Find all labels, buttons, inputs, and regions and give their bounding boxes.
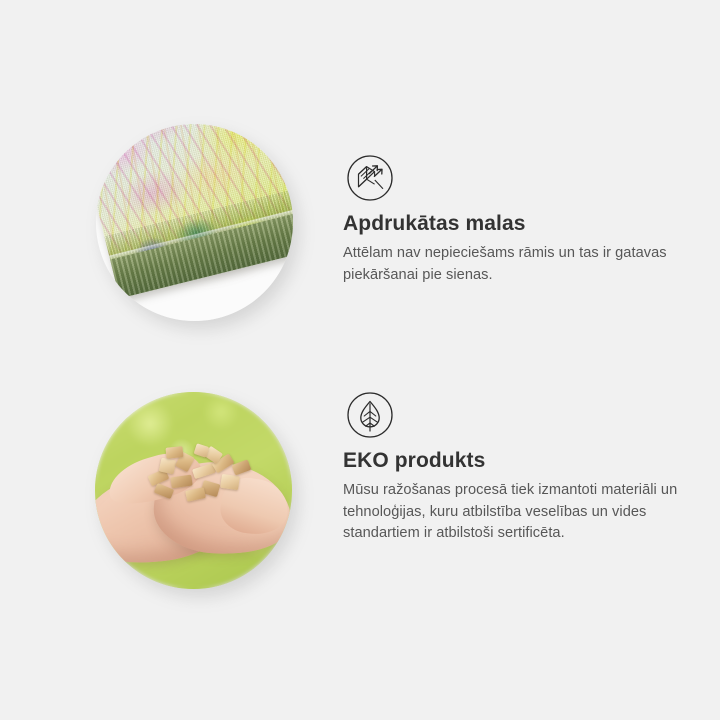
canvas-print-corner-photo bbox=[96, 124, 293, 321]
photo-circle-mask bbox=[95, 392, 292, 589]
wrapped-canvas-edges-icon bbox=[347, 155, 393, 201]
feature-printed-edges: Apdrukātas malas Attēlam nav nepieciešam… bbox=[0, 0, 720, 360]
leaf-icon bbox=[347, 392, 393, 438]
product-feature-infographic: Apdrukātas malas Attēlam nav nepieciešam… bbox=[0, 0, 720, 720]
feature-description: Mūsu ražošanas procesā tiek izmantoti ma… bbox=[343, 480, 695, 545]
hands-holding-wood-chips-photo bbox=[95, 392, 292, 589]
feature-description: Attēlam nav nepieciešams rāmis un tas ir… bbox=[343, 243, 695, 286]
feature-title: EKO produkts bbox=[343, 448, 695, 474]
printed-edges-text-block: Apdrukātas malas Attēlam nav nepieciešam… bbox=[343, 211, 695, 286]
photo-circle-mask bbox=[96, 124, 293, 321]
eko-product-text-block: EKO produkts Mūsu ražošanas procesā tiek… bbox=[343, 448, 695, 545]
feature-eko-product: EKO produkts Mūsu ražošanas procesā tiek… bbox=[0, 360, 720, 720]
wood-chips-pile bbox=[144, 445, 254, 516]
feature-title: Apdrukātas malas bbox=[343, 211, 695, 237]
